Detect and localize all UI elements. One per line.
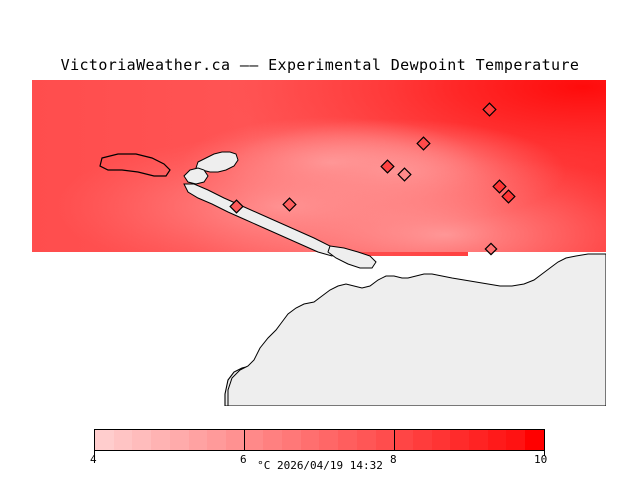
colorbar-tick-4 — [94, 429, 95, 451]
colorbar-tick-10 — [544, 429, 545, 451]
colorbar-gradient — [94, 429, 545, 451]
colorbar-segment — [450, 430, 469, 450]
colorbar-segment — [338, 430, 357, 450]
colorbar-segment — [189, 430, 208, 450]
weather-map-page: VictoriaWeather.ca —— Experimental Dewpo… — [0, 0, 640, 480]
colorbar-segment — [263, 430, 282, 450]
colorbar-segment — [525, 430, 544, 450]
colorbar-segment — [357, 430, 376, 450]
colorbar-segment — [282, 430, 301, 450]
colorbar-segment — [413, 430, 432, 450]
colorbar-segment — [376, 430, 395, 450]
colorbar-segment — [151, 430, 170, 450]
colorbar-segment — [114, 430, 133, 450]
colorbar-segment — [226, 430, 245, 450]
colorbar-tick-6 — [244, 429, 245, 451]
colorbar-segment — [319, 430, 338, 450]
colorbar-segment — [301, 430, 320, 450]
colorbar-segment — [469, 430, 488, 450]
colorbar-segment — [245, 430, 264, 450]
colorbar-segment — [95, 430, 114, 450]
page-title: VictoriaWeather.ca —— Experimental Dewpo… — [0, 56, 640, 74]
colorbar-segment — [207, 430, 226, 450]
colorbar-segment — [170, 430, 189, 450]
colorbar-tick-8 — [394, 429, 395, 451]
dewpoint-map[interactable] — [32, 80, 606, 406]
colorbar-segment — [394, 430, 413, 450]
colorbar-caption: °C 2026/04/19 14:32 — [0, 459, 640, 472]
colorbar-segment — [132, 430, 151, 450]
map-panel[interactable] — [32, 80, 606, 406]
colorbar-segment — [432, 430, 451, 450]
colorbar: 4 6 8 10 — [94, 429, 545, 451]
colorbar-segment — [488, 430, 507, 450]
colorbar-segment — [506, 430, 525, 450]
